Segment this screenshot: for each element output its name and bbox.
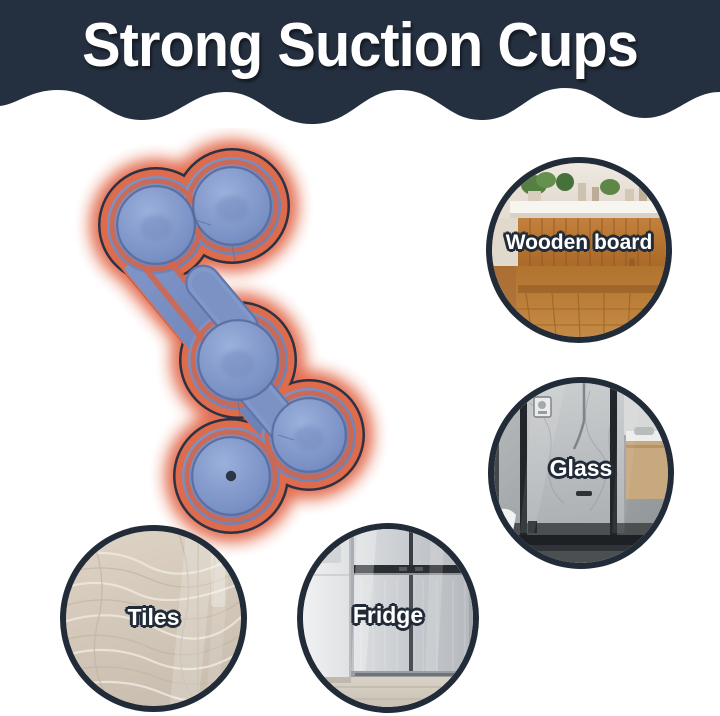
suction-cup-2 xyxy=(192,166,272,246)
suction-cups xyxy=(116,166,347,516)
suction-cup-5 xyxy=(191,436,271,516)
suction-cup-3 xyxy=(197,319,279,401)
surface-card-wooden-board[interactable]: Wooden board xyxy=(492,163,666,337)
suction-cup-4 xyxy=(271,397,347,473)
suction-cup-mount-illustration xyxy=(52,128,392,558)
surface-label-wooden-board: Wooden board xyxy=(492,231,666,255)
suction-cup-1 xyxy=(116,185,196,265)
page-title: Strong Suction Cups xyxy=(25,6,695,86)
surface-label-fridge: Fridge xyxy=(303,602,473,629)
surface-label-tiles: Tiles xyxy=(66,604,241,631)
surface-card-tiles[interactable]: Tiles xyxy=(66,531,241,706)
surface-label-glass: Glass xyxy=(494,455,668,482)
valve-dot xyxy=(226,471,236,481)
product-image xyxy=(52,128,392,558)
product-infographic: Strong Suction Cups xyxy=(0,0,720,716)
surface-card-fridge[interactable]: Fridge xyxy=(303,529,473,707)
header-banner: Strong Suction Cups xyxy=(0,0,720,130)
surface-card-glass[interactable]: Glass xyxy=(494,383,668,563)
